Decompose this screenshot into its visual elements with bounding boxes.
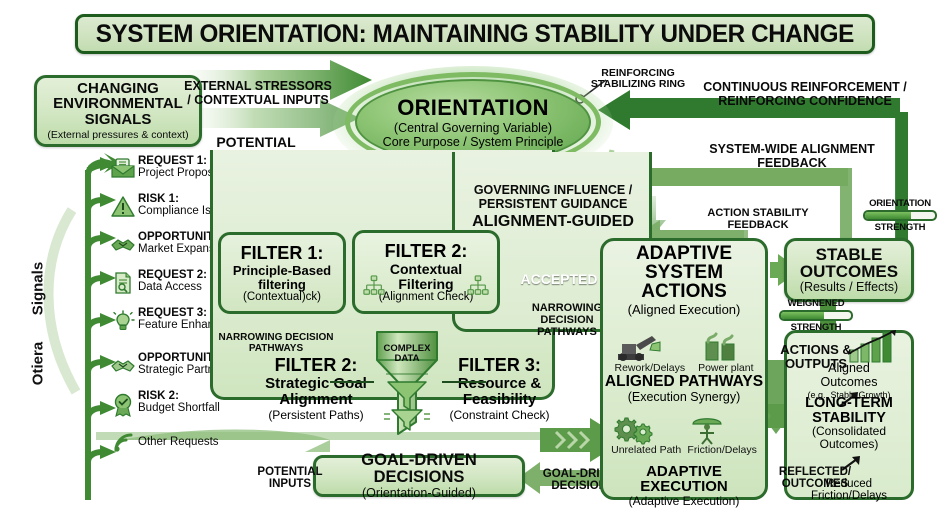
filter-2-sub-2: Filtering	[398, 277, 453, 292]
filter-2-sub-1: Contextual	[390, 262, 462, 277]
funnel-connectors	[330, 375, 580, 389]
complex-data-funnel: COMPLEX DATA	[374, 330, 440, 440]
filter-2-box[interactable]: FILTER 2: Contextual Filtering (Alignmen…	[352, 230, 500, 314]
diagram-canvas: SYSTEM ORIENTATION: MAINTAINING STABILIT…	[0, 0, 950, 530]
hierarchy-icon	[467, 275, 489, 297]
funnel-label-2: DATA	[374, 354, 440, 364]
filter-2-paren: (Alignment Check)	[379, 291, 474, 303]
hierarchy-icon	[363, 275, 385, 297]
filter-2-title: FILTER 2:	[385, 241, 468, 262]
